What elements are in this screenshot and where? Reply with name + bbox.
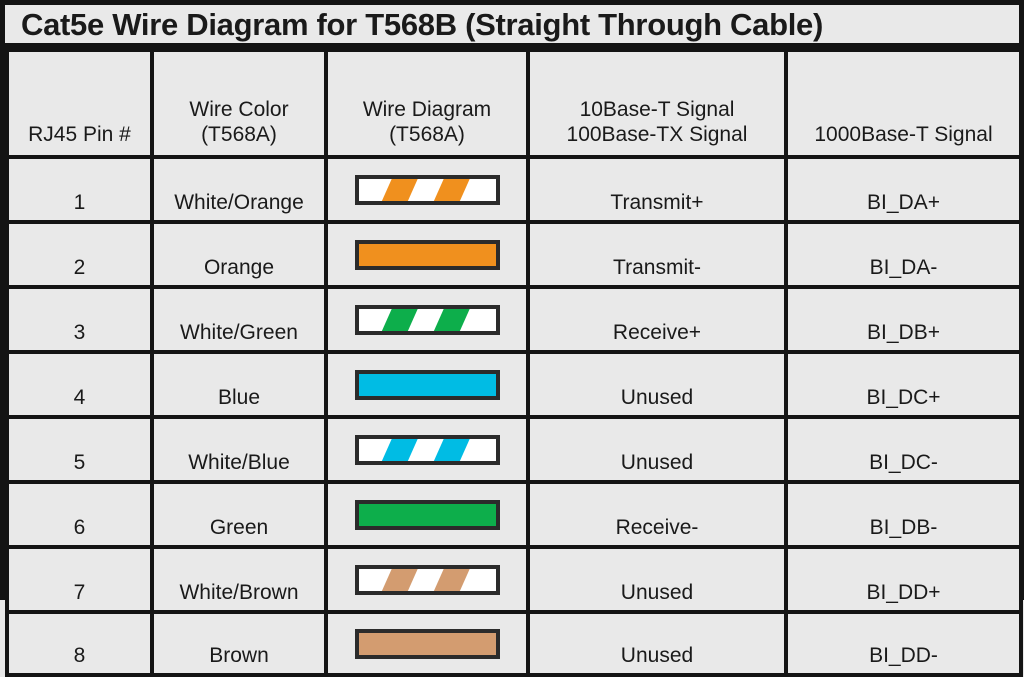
cell-pin-number: 1 [7,157,152,222]
cell-wire-color: Orange [152,222,326,287]
column-header-wire-diagram-line1: Wire Diagram [332,97,522,123]
cell-signal-1000: BI_DB- [786,482,1021,547]
table-body: 1White/OrangeTransmit+BI_DA+2OrangeTrans… [7,157,1021,675]
table-row: 5White/BlueUnusedBI_DC- [7,417,1021,482]
table-header-row: RJ45 Pin # Wire Color (T568A) Wire Diagr… [7,50,1021,157]
cell-wire-color: White/Blue [152,417,326,482]
cell-signal-1000: BI_DB+ [786,287,1021,352]
swatch-stripe [426,439,472,461]
cell-wire-color: Brown [152,612,326,675]
wire-swatch-white-orange [355,175,500,205]
swatch-stripe [374,179,420,201]
cell-signal-1000: BI_DD- [786,612,1021,675]
wire-swatch-green [355,500,500,530]
cell-signal-10-100: Unused [528,352,786,417]
page-title: Cat5e Wire Diagram for T568B (Straight T… [21,9,823,40]
wire-diagram-sheet: Cat5e Wire Diagram for T568B (Straight T… [0,0,1024,600]
cell-pin-number: 8 [7,612,152,675]
cell-wire-color: White/Orange [152,157,326,222]
swatch-stripe-group [359,439,496,461]
cell-wire-diagram [326,482,528,547]
cat5e-pinout-table: RJ45 Pin # Wire Color (T568A) Wire Diagr… [5,48,1023,677]
cell-wire-color: White/Brown [152,547,326,612]
cell-pin-number: 7 [7,547,152,612]
cell-signal-10-100: Unused [528,612,786,675]
column-header-pin: RJ45 Pin # [7,50,152,157]
cell-pin-number: 4 [7,352,152,417]
cell-signal-1000: BI_DA- [786,222,1021,287]
cell-signal-10-100: Transmit+ [528,157,786,222]
column-header-wire-color-line2: (T568A) [158,122,320,148]
swatch-stripe [426,179,472,201]
cell-signal-1000: BI_DA+ [786,157,1021,222]
swatch-stripe-group [359,309,496,331]
cell-wire-color: White/Green [152,287,326,352]
cell-signal-10-100: Unused [528,547,786,612]
cell-signal-10-100: Transmit- [528,222,786,287]
column-header-signal-100-line2: 100Base-TX Signal [534,122,780,148]
cell-wire-diagram [326,612,528,675]
cell-wire-color: Blue [152,352,326,417]
table-row: 3White/GreenReceive+BI_DB+ [7,287,1021,352]
swatch-solid-fill [359,504,496,526]
cell-pin-number: 5 [7,417,152,482]
table-row: 1White/OrangeTransmit+BI_DA+ [7,157,1021,222]
swatch-stripe [374,439,420,461]
table-title-band: Cat5e Wire Diagram for T568B (Straight T… [5,0,1019,48]
column-header-signal-1000: 1000Base-T Signal [786,50,1021,157]
cell-wire-diagram [326,547,528,612]
swatch-solid-fill [359,633,496,655]
cell-wire-color: Green [152,482,326,547]
cell-wire-diagram [326,287,528,352]
column-header-wire-color: Wire Color (T568A) [152,50,326,157]
column-header-signal-1000-line1: 1000Base-T Signal [792,122,1015,148]
cell-signal-1000: BI_DC- [786,417,1021,482]
cell-signal-1000: BI_DD+ [786,547,1021,612]
column-header-wire-diagram: Wire Diagram (T568A) [326,50,528,157]
swatch-stripe [374,309,420,331]
wire-swatch-white-brown [355,565,500,595]
column-header-wire-color-line1: Wire Color [158,97,320,123]
swatch-stripe [426,569,472,591]
cell-signal-10-100: Receive+ [528,287,786,352]
wire-swatch-brown [355,629,500,659]
column-header-signal-10-line1: 10Base-T Signal [534,97,780,123]
column-header-pin-line1: RJ45 Pin # [13,122,146,148]
cell-pin-number: 2 [7,222,152,287]
wire-swatch-white-green [355,305,500,335]
cell-pin-number: 3 [7,287,152,352]
swatch-stripe [426,309,472,331]
wire-swatch-blue [355,370,500,400]
cell-signal-10-100: Unused [528,417,786,482]
cell-pin-number: 6 [7,482,152,547]
swatch-stripe-group [359,179,496,201]
table-row: 2OrangeTransmit-BI_DA- [7,222,1021,287]
wire-swatch-orange [355,240,500,270]
wire-swatch-white-blue [355,435,500,465]
cell-signal-1000: BI_DC+ [786,352,1021,417]
cell-wire-diagram [326,222,528,287]
swatch-solid-fill [359,374,496,396]
swatch-stripe [374,569,420,591]
table-row: 7White/BrownUnusedBI_DD+ [7,547,1021,612]
cell-wire-diagram [326,352,528,417]
cell-signal-10-100: Receive- [528,482,786,547]
table-row: 8BrownUnusedBI_DD- [7,612,1021,675]
swatch-solid-fill [359,244,496,266]
cell-wire-diagram [326,417,528,482]
swatch-stripe-group [359,569,496,591]
column-header-signal-10-100: 10Base-T Signal 100Base-TX Signal [528,50,786,157]
cell-wire-diagram [326,157,528,222]
column-header-wire-diagram-line2: (T568A) [332,122,522,148]
table-row: 6GreenReceive-BI_DB- [7,482,1021,547]
table-row: 4BlueUnusedBI_DC+ [7,352,1021,417]
